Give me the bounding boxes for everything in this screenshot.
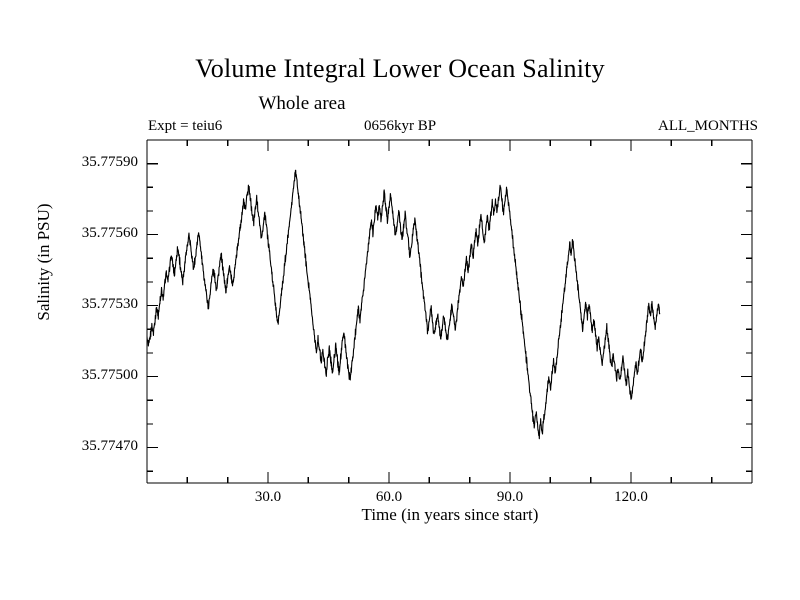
axes-frame xyxy=(147,140,752,483)
chart-figure: Volume Integral Lower Ocean Salinity Who… xyxy=(0,0,800,600)
data-line-0 xyxy=(147,170,660,438)
plot-area xyxy=(0,0,800,600)
data-series-group xyxy=(147,170,660,438)
